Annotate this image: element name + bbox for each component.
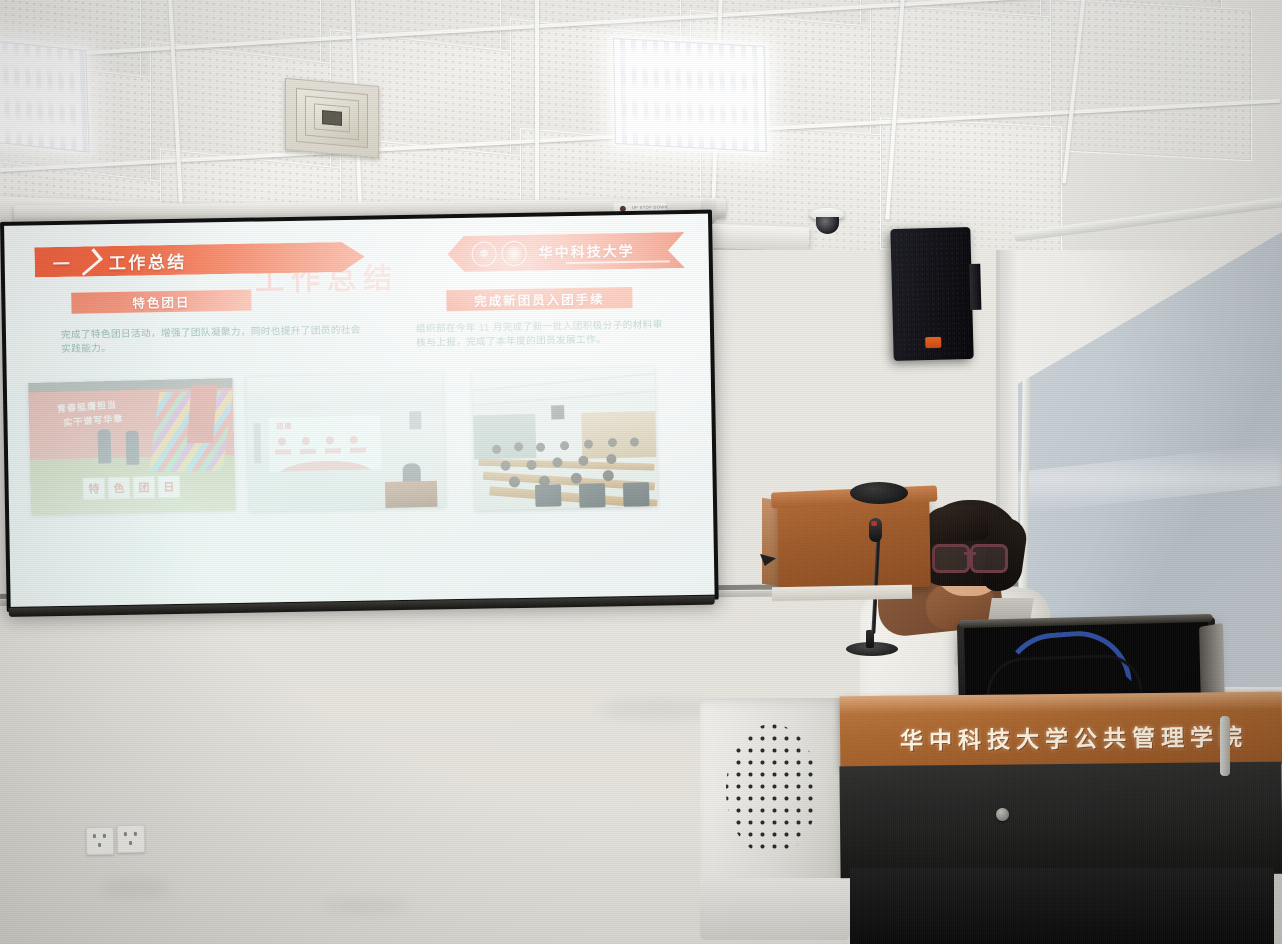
university-name: 华中科技大学 [538,241,634,263]
presenter-eyeglasses [932,544,1008,567]
photo-chair [579,483,606,508]
photo-screen-title: 团建 [276,421,292,431]
photo-audience-head [560,441,569,450]
air-vent [285,78,379,158]
socket-hole [134,832,137,836]
lectern-base [850,868,1274,944]
microphone-indicator-light [871,521,877,526]
photo-audience-head [536,443,545,452]
letter-block: 色 [108,477,131,500]
photo-ceiling-speaker [551,405,564,419]
jbl-logo-badge [925,337,941,348]
lectern-cabinet-lock[interactable] [996,808,1009,821]
photo-decor-flag [187,385,218,444]
vent-core [322,110,342,126]
photo-person [98,429,112,463]
presenter-bangs [921,504,989,545]
speaker-bracket [969,264,981,310]
light-tube [627,120,753,138]
slide-body-right: 组织部在今年 11 月完成了新一批入团积极分子的材料审核与上报，完成了本年度的团… [416,318,666,351]
section-number: 一 [52,249,70,274]
slide-photo-lecture-hall [472,367,657,510]
wooden-equipment-box [777,497,931,590]
wall-smudge [320,900,410,912]
slide-pill-left: 特色团日 [71,290,251,314]
ceiling-light-panel [0,37,90,153]
photo-banner-line-2: 实干谱写华章 [63,411,124,429]
lectern-wood-sheen [840,692,1282,715]
microphone-head[interactable] [869,518,882,542]
photo-screen-icons [278,436,358,446]
light-tube [0,84,75,105]
projection-screen: UP STOP DOWN 工作总结 一 工作总结 华 华中科技大学 特色团日 完… [0,209,731,634]
socket-hole [93,834,96,838]
slide-section-banner: 一 工作总结 [34,242,364,278]
photo-audience-head [509,476,520,487]
hust-emblem-icon: 华 [471,241,496,266]
slide-pill-right: 完成新团员入团手续 [446,287,632,311]
slide-photo-classroom-presentation: 团建 [246,373,445,512]
slide-body-left: 完成了特色团日活动，增强了团队凝聚力，同时也提升了团员的社会实践能力。 [61,324,361,358]
section-title: 工作总结 [108,247,186,273]
photo-screen-wave [269,457,381,472]
photo-audience-head [500,461,510,471]
lectern-wood-front: 华中科技大学公共管理学院 [840,692,1282,769]
socket-hole [124,832,127,836]
lectern-area: 华中科技大学公共管理学院 [700,470,1282,944]
photo-side-board [473,414,536,460]
photo-wood-wall [581,411,656,459]
photo-screen-labels [275,447,375,454]
socket-hole [129,841,132,845]
lectern-school-nameplate: 华中科技大学公共管理学院 [900,718,1248,756]
wall-socket[interactable] [117,825,145,853]
lectern-cabinet-door[interactable] [839,762,1282,879]
photo-person [126,431,140,465]
photo-chair [623,482,650,507]
light-tube [627,88,753,106]
letter-block: 日 [158,476,181,499]
photo-letter-blocks: 特 色 团 日 [83,476,181,500]
light-tube [626,54,752,72]
ceiling-light-panel [613,38,767,152]
photo-ceiling [246,373,443,412]
photo-projection-screen: 团建 [267,414,382,473]
photo-wall-panel [253,423,261,463]
slide-photo-outdoor-ceremony: 青春挺膺担当 实干谱写华章 特 色 团 日 [28,378,235,515]
lectern-metal-rail [1220,716,1230,776]
letter-block: 特 [83,477,106,500]
photo-speaker [409,411,421,429]
eyeglass-bridge [964,552,976,555]
chevron-right-icon [74,248,103,276]
hust-seal-icon [501,240,526,265]
lectern-side-base [700,878,850,940]
wall-socket[interactable] [86,827,114,855]
presentation-slide: 工作总结 一 工作总结 华 华中科技大学 特色团日 完成新团员入团手续 完成了特… [4,214,715,607]
photo-chair [535,484,562,507]
monitor-hinge [1199,623,1225,701]
lectern-shelf [772,585,912,601]
socket-hole [98,843,101,847]
eyeglass-lens-left [932,544,970,573]
ribbon-underline [566,260,670,264]
microphone-base-pad [850,482,908,504]
photo-audience-head [526,460,536,470]
photo-lectern [385,481,438,508]
socket-hole [103,834,106,838]
letter-block: 团 [133,476,156,499]
black-cable [985,653,1142,696]
photo-scene: UP STOP DOWN 工作总结 一 工作总结 华 华中科技大学 特色团日 完… [0,0,1282,944]
eyeglass-lens-right [970,544,1008,573]
light-tube [0,51,74,72]
light-tube [0,116,76,137]
university-ribbon: 华 华中科技大学 [447,232,685,272]
wall-speaker [890,227,973,361]
wall-smudge [100,880,170,896]
screen-control-label: UP STOP DOWN [632,204,668,209]
